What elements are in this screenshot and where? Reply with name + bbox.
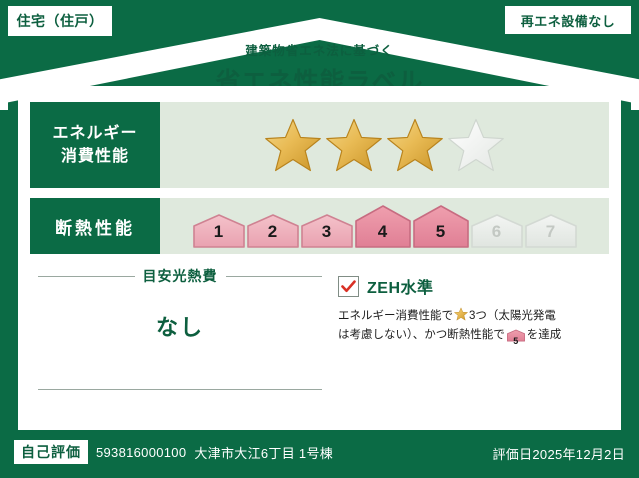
- insulation-level-value: 5: [507, 334, 525, 349]
- zeh-description: エネルギー消費性能で3つ（太陽光発電 は考慮しない）、かつ断熱性能で5を達成: [338, 307, 609, 349]
- insulation-level-badge: 1: [193, 214, 245, 248]
- building-type-tab: 住宅（住戸）: [8, 6, 112, 36]
- rule-right: [226, 276, 323, 277]
- utility-cost-section: 目安光熱費 なし: [30, 266, 330, 416]
- insulation-performance-row: 断熱性能 1: [30, 198, 609, 254]
- check-icon: [341, 280, 356, 293]
- insulation-level-badge-inline: 5: [507, 329, 525, 349]
- utility-cost-underline: [38, 389, 322, 390]
- utility-cost-heading: 目安光熱費: [30, 266, 330, 286]
- star-filled-icon: [264, 117, 322, 173]
- energy-label-line1: エネルギー: [52, 122, 137, 145]
- label-id: 593816000100: [96, 445, 186, 460]
- zeh-checkbox[interactable]: [338, 276, 359, 297]
- insulation-level-badge: 7: [525, 214, 577, 248]
- house-icon: [525, 214, 577, 248]
- zeh-desc-part1: エネルギー消費性能で: [338, 310, 453, 322]
- utility-cost-heading-text: 目安光熱費: [143, 266, 218, 286]
- star-filled-icon: [386, 117, 444, 173]
- label-footer: 自己評価 593816000100 大津市大江6丁目 1号棟 評価日2025年1…: [0, 434, 639, 478]
- insulation-level-badge: 5: [413, 205, 469, 248]
- utility-cost-value: なし: [30, 310, 330, 342]
- star-empty-icon: [447, 117, 505, 173]
- zeh-heading: ZEH水準: [338, 274, 609, 298]
- label-body-card: エネルギー 消費性能: [18, 86, 621, 430]
- energy-performance-label: エネルギー 消費性能: [30, 102, 160, 188]
- house-icon: [193, 214, 245, 248]
- evaluation-date: 評価日2025年12月2日: [492, 444, 625, 463]
- zeh-section: ZEH水準 エネルギー消費性能で3つ（太陽光発電 は考慮しない）、かつ断熱性能で…: [338, 274, 609, 416]
- insulation-level-badge: 6: [471, 214, 523, 248]
- footer-left-group: 自己評価 593816000100 大津市大江6丁目 1号棟: [14, 440, 333, 464]
- zeh-desc-part3: は考慮しない）、かつ断熱性能で: [338, 329, 505, 341]
- insulation-performance-value: 1 2 3: [160, 198, 609, 254]
- renewable-equipment-tab: 再エネ設備なし: [505, 6, 631, 34]
- insulation-level-scale: 1 2 3: [193, 205, 577, 248]
- insulation-performance-label: 断熱性能: [30, 198, 160, 254]
- energy-performance-label: 住宅（住戸） 再エネ設備なし 建築物省エネ法に基づく 省エネ性能ラベル エネルギ…: [0, 0, 639, 478]
- star-filled-icon: [454, 307, 468, 321]
- house-icon: [247, 214, 299, 248]
- evaluation-type-badge: 自己評価: [14, 440, 88, 464]
- insulation-level-badge: 4: [355, 205, 411, 248]
- insulation-level-badge: 3: [301, 214, 353, 248]
- property-address: 大津市大江6丁目 1号棟: [194, 443, 333, 462]
- zeh-title: ZEH水準: [367, 274, 434, 298]
- energy-performance-value: [160, 102, 609, 188]
- energy-performance-row: エネルギー 消費性能: [30, 102, 609, 188]
- insulation-level-badge: 2: [247, 214, 299, 248]
- zeh-desc-part4: を達成: [527, 329, 562, 341]
- lower-section: 目安光熱費 なし ZEH水準 エネルギー消費性能で3つ（太陽光発電: [30, 266, 609, 416]
- label-subtitle: 建築物省エネ法に基づく: [0, 40, 639, 59]
- star-filled-icon: [325, 117, 383, 173]
- house-icon: [355, 205, 411, 248]
- energy-label-line2: 消費性能: [61, 145, 129, 168]
- star-rating: [264, 117, 505, 173]
- house-icon: [413, 205, 469, 248]
- rule-left: [38, 276, 135, 277]
- house-icon: [301, 214, 353, 248]
- house-icon: [471, 214, 523, 248]
- zeh-desc-part2: 3つ（太陽光発電: [469, 310, 556, 322]
